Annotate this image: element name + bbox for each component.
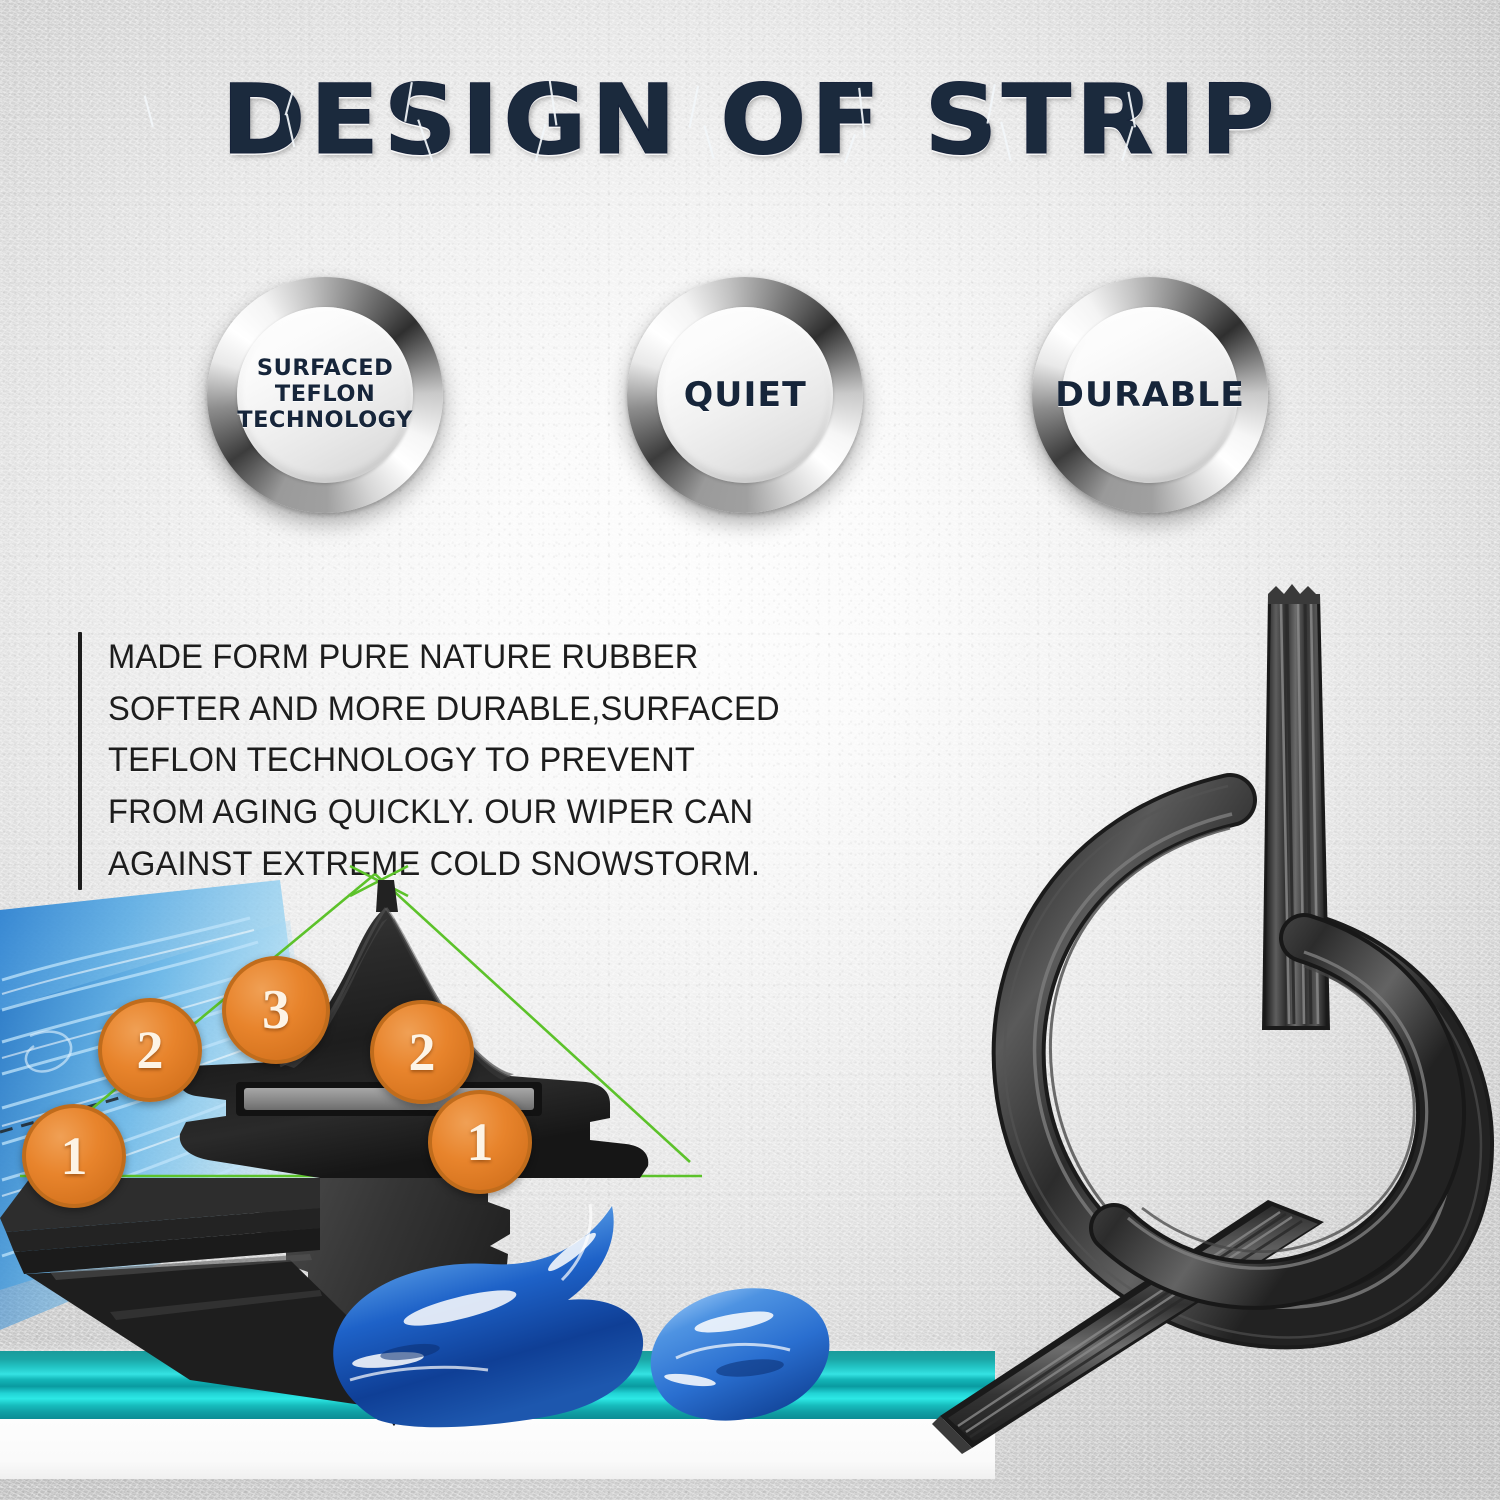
callout-1-left[interactable]: 1 (22, 1104, 126, 1208)
page-title: DESIGN OF STRIP (0, 72, 1500, 168)
wiper-blade-cross-section-diagram (0, 860, 830, 1500)
product-infographic: DESIGN OF STRIP SURFACED TEFLON TECHNOLO… (0, 0, 1500, 1500)
page-title-text: DESIGN OF STRIP (221, 72, 1279, 168)
callout-number: 1 (61, 1125, 88, 1187)
callout-2-left[interactable]: 2 (98, 998, 202, 1102)
description-accent-rule (78, 632, 82, 890)
callout-1-right[interactable]: 1 (428, 1090, 532, 1194)
badge-label: DURABLE (1049, 375, 1251, 415)
rubber-wiper-refill-strip (900, 560, 1500, 1500)
callout-number: 2 (409, 1021, 436, 1083)
badge-label: QUIET (677, 375, 812, 415)
badge-inner-face: SURFACED TEFLON TECHNOLOGY (237, 307, 413, 483)
callout-2-right[interactable]: 2 (370, 1000, 474, 1104)
badge-inner-face: QUIET (657, 307, 833, 483)
description-block: MADE FORM PURE NATURE RUBBER SOFTER AND … (78, 632, 808, 890)
badge-label: SURFACED TEFLON TECHNOLOGY (231, 356, 419, 434)
callout-number: 1 (467, 1111, 494, 1173)
description-text: MADE FORM PURE NATURE RUBBER SOFTER AND … (108, 632, 780, 890)
callout-number: 2 (137, 1019, 164, 1081)
callout-3-top[interactable]: 3 (222, 956, 330, 1064)
callout-number: 3 (262, 978, 290, 1042)
badge-durable[interactable]: DURABLE (1032, 277, 1268, 513)
badge-surfaced-teflon-technology[interactable]: SURFACED TEFLON TECHNOLOGY (207, 277, 443, 513)
badge-quiet[interactable]: QUIET (627, 277, 863, 513)
title-crack-15 (144, 96, 154, 128)
badge-inner-face: DURABLE (1062, 307, 1238, 483)
